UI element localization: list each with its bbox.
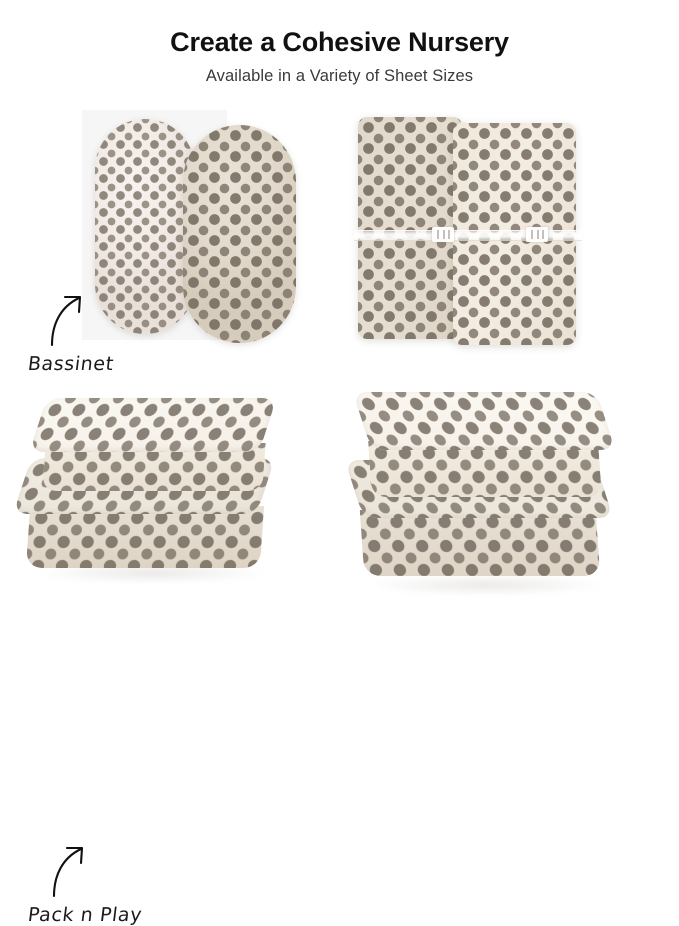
dot-print-pattern — [29, 398, 277, 452]
dot-print-pattern — [95, 119, 195, 334]
strap-buckle-icon — [432, 227, 454, 242]
product-label-pack-n-play: Pack n Play — [27, 904, 144, 926]
curved-arrow-up-right-icon — [50, 842, 96, 898]
mattress-top-face — [29, 398, 277, 452]
product-label-bassinet: Bassinet — [27, 353, 115, 375]
bassinet-sheet-left — [95, 119, 195, 334]
product-cell-changing-pad[interactable]: Changing Pad — [340, 105, 679, 390]
dot-print-pattern — [26, 506, 264, 568]
mattress-side-face — [26, 506, 264, 568]
changing-pad-product-image — [340, 105, 679, 390]
mattress-side-face — [360, 510, 601, 576]
product-infographic: Create a Cohesive Nursery Available in a… — [0, 0, 679, 679]
mattress-top-face — [353, 392, 616, 450]
dot-print-pattern — [360, 510, 601, 576]
bassinet-product-image — [0, 105, 340, 390]
pack-n-play-sheet-top — [38, 398, 268, 494]
header: Create a Cohesive Nursery Available in a… — [0, 0, 679, 87]
page-title: Create a Cohesive Nursery — [0, 0, 679, 58]
page-subtitle: Available in a Variety of Sheet Sizes — [0, 58, 679, 87]
bassinet-sheet-right — [183, 125, 296, 343]
product-cell-crib[interactable]: Crib — [340, 390, 679, 679]
dot-print-pattern — [353, 392, 616, 450]
dot-print-pattern — [183, 125, 296, 343]
strap-buckle-icon — [526, 227, 548, 242]
crib-sheet-top — [362, 392, 606, 500]
product-grid: Bassinet — [0, 105, 679, 679]
product-cell-pack-n-play[interactable]: Pack n Play — [0, 390, 340, 679]
curved-arrow-up-right-icon — [48, 291, 94, 347]
crib-product-image — [340, 390, 679, 679]
product-cell-bassinet[interactable]: Bassinet — [0, 105, 340, 390]
pack-n-play-product-image — [0, 390, 340, 679]
